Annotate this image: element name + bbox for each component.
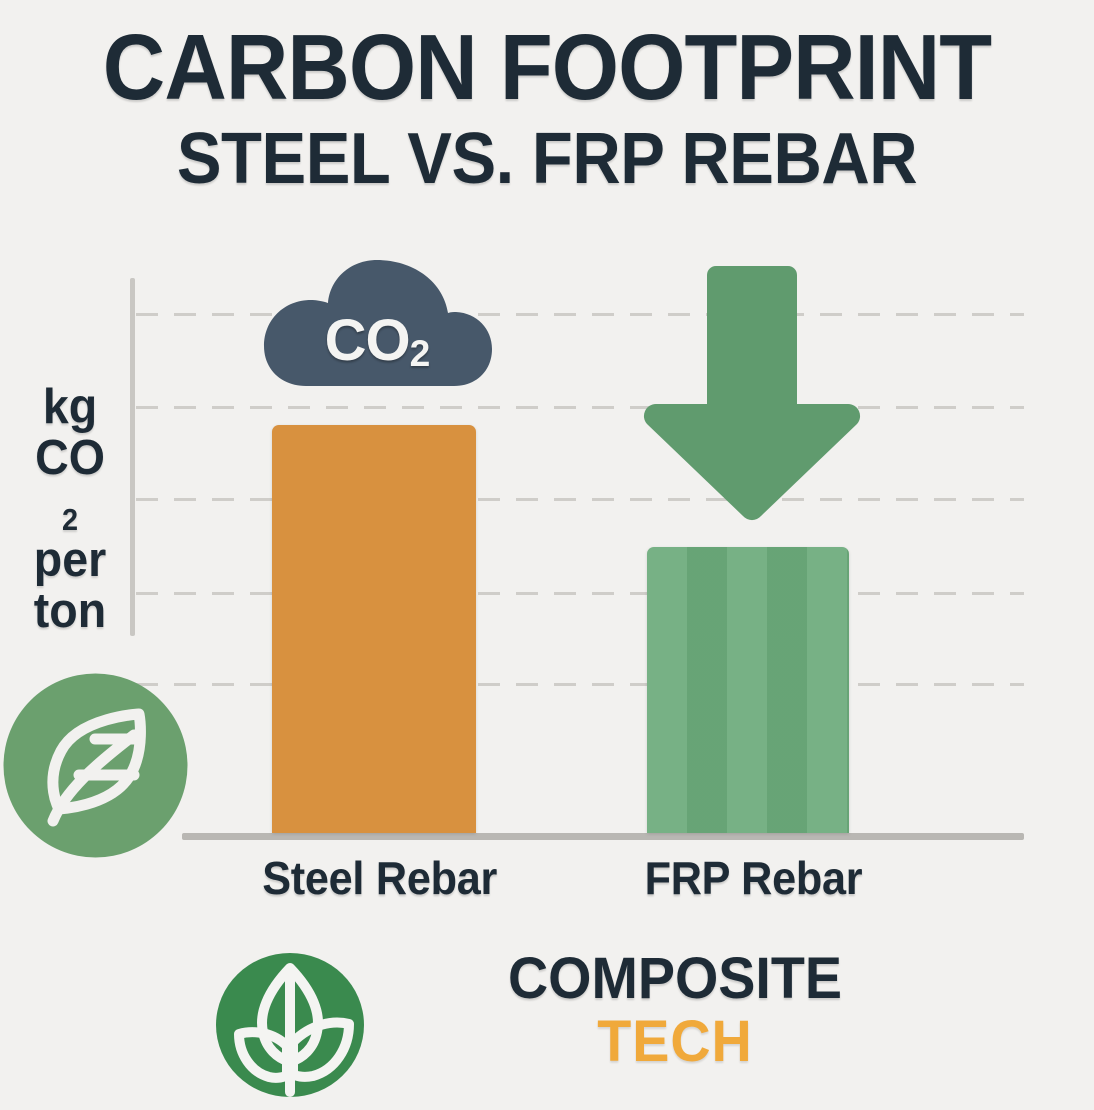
y-axis-label-line-4: ton <box>15 586 125 637</box>
category-label-steel: Steel Rebar <box>262 851 488 905</box>
gridline-5 <box>136 683 1024 686</box>
bar-steel-rebar[interactable] <box>272 425 476 833</box>
x-axis-line <box>182 833 1024 840</box>
y-axis-label-line-3: per <box>15 535 125 586</box>
plant-logo-icon <box>215 952 365 1098</box>
y-axis-line <box>130 278 135 636</box>
cloud-icon <box>258 252 496 392</box>
brand-logo <box>215 952 365 1098</box>
gridline-3 <box>136 498 1024 501</box>
category-label-frp: FRP Rebar <box>645 851 852 905</box>
leaf-icon <box>3 673 188 858</box>
y-axis-label-subscript: 2 <box>62 503 78 537</box>
down-arrow <box>640 256 864 524</box>
fiber-stripes-pattern <box>647 547 849 833</box>
y-axis-label: kg CO2 per ton <box>15 382 125 637</box>
brand-text: COMPOSITE TECH <box>435 948 915 1073</box>
brand-footer: COMPOSITE TECH <box>215 948 915 1098</box>
gridline-4 <box>136 592 1024 595</box>
y-axis-label-line-2: CO2 <box>15 433 125 535</box>
brand-name-primary: COMPOSITE <box>445 948 906 1011</box>
brand-name-secondary: TECH <box>445 1011 906 1074</box>
gridline-2 <box>136 406 1024 409</box>
bar-frp-rebar[interactable] <box>647 547 849 833</box>
chart-plot-area: kg CO2 per ton CO2 <box>0 0 1094 1110</box>
arrow-down-icon <box>640 256 864 524</box>
co2-cloud: CO2 <box>258 252 496 392</box>
infographic-poster: CARBON FOOTPRINT STEEL VS. FRP REBAR kg … <box>0 0 1094 1110</box>
y-axis-label-line-1: kg <box>15 382 125 433</box>
y-axis-label-co: CO <box>15 433 125 484</box>
leaf-badge <box>3 673 188 858</box>
